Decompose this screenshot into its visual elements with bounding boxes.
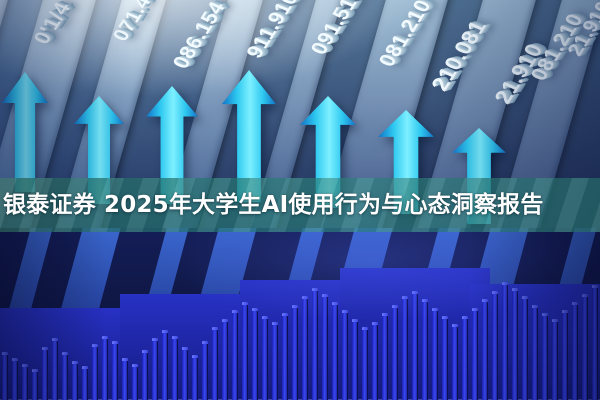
bar-chart-bar xyxy=(402,296,408,400)
bar-chart-bar xyxy=(422,299,428,400)
bar-chart-bar xyxy=(12,358,18,400)
bar-chart-bar xyxy=(382,313,388,400)
bar-chart-bar xyxy=(52,338,58,400)
bar-chart-bar xyxy=(272,322,278,400)
bar-chart-bar xyxy=(412,291,418,400)
bar-chart-bar xyxy=(122,358,128,400)
bar-chart-bar xyxy=(152,338,158,400)
bar-chart-bar xyxy=(372,322,378,400)
bar-chart-bar xyxy=(462,316,468,400)
bar-chart-bar xyxy=(42,347,48,400)
bar-chart-bar xyxy=(552,319,558,400)
bar-chart-bar xyxy=(212,327,218,400)
bar-chart-bar xyxy=(532,305,538,400)
bar-chart-bar xyxy=(202,341,208,400)
bar-chart-bar xyxy=(72,361,78,400)
bar-chart-bar xyxy=(2,352,8,400)
bar-chart-bar xyxy=(262,316,268,400)
bar-chart-bar xyxy=(192,355,198,400)
bar-chart-bar xyxy=(322,294,328,400)
bar-chart-bar xyxy=(22,364,28,400)
bar-chart-bar xyxy=(62,352,68,400)
bar-chart-bar xyxy=(232,310,238,400)
bar-chart-bar xyxy=(172,336,178,400)
bar-chart-bars xyxy=(0,250,600,400)
bar-chart-bar xyxy=(312,288,318,400)
bar-chart-bar xyxy=(452,324,458,400)
bar-chart-bar xyxy=(132,364,138,400)
bar-chart-bar xyxy=(162,330,168,400)
bar-chart-bar xyxy=(292,305,298,400)
bar-chart-bar xyxy=(562,310,568,400)
bar-chart-bar xyxy=(522,296,528,400)
bar-chart-bar xyxy=(362,327,368,400)
bar-chart-bar xyxy=(332,302,338,400)
lower-bar-chart-scene xyxy=(0,228,600,400)
up-arrow-icon xyxy=(2,72,48,192)
bar-chart-bar xyxy=(32,369,38,400)
bar-chart-bar xyxy=(222,319,228,400)
bar-chart-bar xyxy=(592,285,598,400)
report-cover-image: 0'1/4071.4086.154911.910091.510081.21021… xyxy=(0,0,600,400)
bar-chart-bar xyxy=(242,302,248,400)
bar-chart-bar xyxy=(182,347,188,400)
bar-chart-bar xyxy=(82,366,88,400)
bar-chart-bar xyxy=(142,350,148,400)
bar-chart-bar xyxy=(542,313,548,400)
bar-chart-bar xyxy=(492,291,498,400)
bar-chart-bar xyxy=(112,341,118,400)
bar-chart-bar xyxy=(442,316,448,400)
bar-chart-bar xyxy=(472,308,478,400)
bar-chart-bar xyxy=(352,319,358,400)
bar-chart-bar xyxy=(582,294,588,400)
bar-chart-bar xyxy=(342,310,348,400)
bar-chart-bar xyxy=(502,282,508,400)
bar-chart-bar xyxy=(512,288,518,400)
bar-chart-bar xyxy=(92,344,98,400)
bar-chart-bar xyxy=(572,302,578,400)
bar-chart-bar xyxy=(302,296,308,400)
bar-chart-bar xyxy=(102,336,108,400)
bar-chart-bar xyxy=(282,313,288,400)
cover-title: 银泰证券 2025年大学生AI使用行为与心态洞察报告 xyxy=(0,178,600,232)
bar-chart-bar xyxy=(482,299,488,400)
bar-chart-bar xyxy=(392,305,398,400)
bar-chart-bar xyxy=(432,308,438,400)
bar-chart-bar xyxy=(252,308,258,400)
